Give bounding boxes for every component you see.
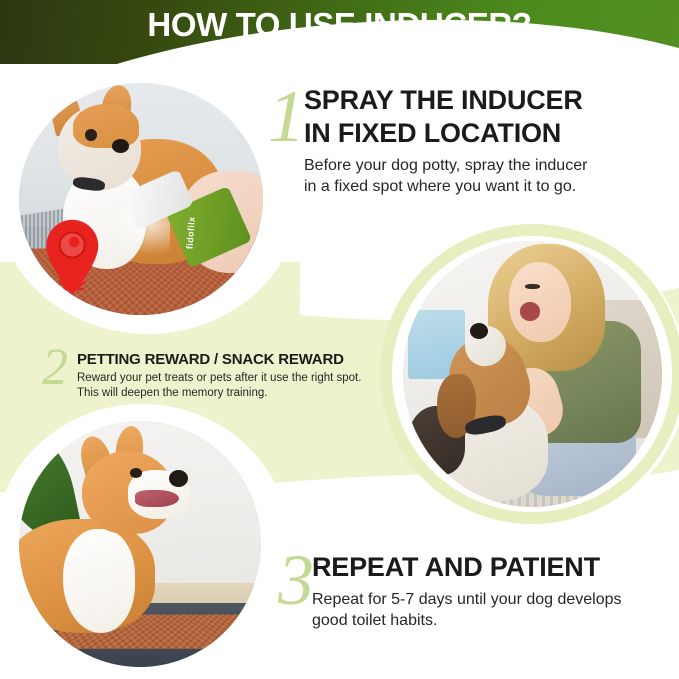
dog-eye [85,129,97,141]
woman-eye [525,284,541,289]
step-1-body-line-1: Before your dog potty, spray the inducer [304,155,674,176]
corgi-chest [63,529,136,632]
step-1-title-line-2: IN FIXED LOCATION [304,117,674,150]
step-3-title: REPEAT AND PATIENT [312,551,672,584]
corgi-eye [130,468,142,478]
step-block-2: PETTING REWARD / SNACK REWARD Reward you… [77,350,387,401]
step-1-title-line-1: SPRAY THE INDUCER [304,84,674,117]
photo-step-2 [400,238,665,510]
infographic-root: HOW TO USE INDUCER? fidofilx [0,0,679,679]
step-2-body-line-2: This will deepen the memory training. [77,386,387,401]
step-2-title: PETTING REWARD / SNACK REWARD [77,350,387,369]
scene-corgi-on-tray [19,421,261,667]
step-block-1: SPRAY THE INDUCER IN FIXED LOCATION Befo… [304,84,674,197]
corgi-mouth [135,490,179,507]
dog-nose [112,139,129,153]
scene-spray-inducer: fidofilx [19,83,263,315]
woman-face [509,262,571,342]
photo-step-1: fidofilx [16,80,266,318]
location-pin-icon [43,218,102,297]
pin-inner-dot [69,236,80,247]
step-3-body-line-1: Repeat for 5-7 days until your dog devel… [312,589,672,610]
photo-step-3 [16,418,264,670]
step-3-title-line-1: REPEAT AND PATIENT [312,551,672,584]
step-number-3: 3 [278,544,314,616]
step-block-3: REPEAT AND PATIENT Repeat for 5-7 days u… [312,551,672,631]
step-3-body-line-2: good toilet habits. [312,610,672,631]
woman-mouth [520,302,541,321]
bottle-brand-label: fidofilx [185,208,212,249]
step-2-title-line-1: PETTING REWARD / SNACK REWARD [77,350,387,369]
step-1-title: SPRAY THE INDUCER IN FIXED LOCATION [304,84,674,150]
step-number-1: 1 [268,80,305,154]
step-number-2: 2 [42,342,68,394]
scene-reward-dog [403,241,662,507]
step-1-body-line-2: in a fixed spot where you want it to go. [304,176,674,197]
step-1-body: Before your dog potty, spray the inducer… [304,155,674,197]
header-banner: HOW TO USE INDUCER? [0,0,679,64]
step-3-body: Repeat for 5-7 days until your dog devel… [312,589,672,631]
dog-head-fur [73,104,139,148]
step-2-body-line-1: Reward your pet treats or pets after it … [77,371,387,386]
step-2-body: Reward your pet treats or pets after it … [77,371,387,401]
